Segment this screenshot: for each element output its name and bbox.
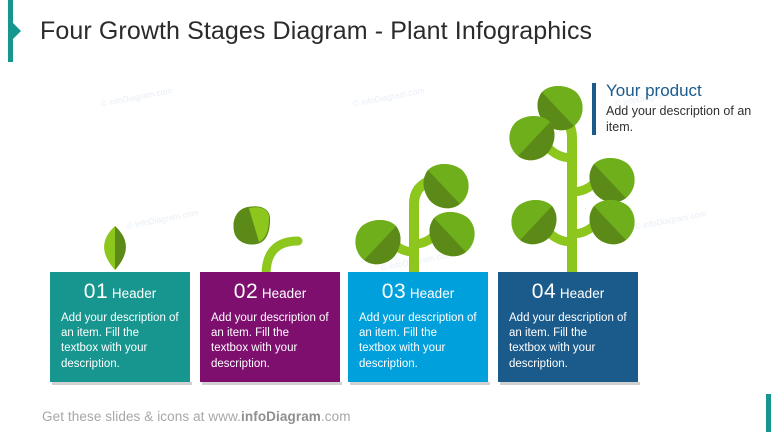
stage-header-01: 01 Header — [61, 281, 179, 305]
stage-box-01[interactable]: 01 Header Add your description of an ite… — [50, 272, 190, 382]
stage-box-03[interactable]: 03 Header Add your description of an ite… — [348, 272, 488, 382]
watermark: © infoDiagram.com — [126, 207, 199, 231]
plant-stage-3 — [352, 158, 476, 278]
stage-description-04: Add your description of an item. Fill th… — [509, 311, 627, 372]
right-accent-bar — [766, 394, 771, 432]
stage-header-label-01: Header — [112, 286, 156, 301]
stage-header-02: 02 Header — [211, 281, 329, 305]
footer-suffix: .com — [321, 409, 351, 424]
stage-description-02: Add your description of an item. Fill th… — [211, 311, 329, 372]
left-arrow-icon — [12, 22, 21, 40]
stage-number-02: 02 — [234, 280, 258, 303]
stage-description-03: Add your description of an item. Fill th… — [359, 311, 477, 372]
plant-stage-1 — [96, 224, 134, 272]
stage-header-label-04: Header — [560, 286, 604, 301]
watermark: © infoDiagram.com — [352, 85, 425, 109]
product-callout: Your product Add your description of an … — [592, 80, 767, 135]
slide-canvas: Four Growth Stages Diagram - Plant Infog… — [0, 0, 783, 440]
stage-box-04[interactable]: 04 Header Add your description of an ite… — [498, 272, 638, 382]
stage-header-04: 04 Header — [509, 281, 627, 305]
callout-accent-bar — [592, 83, 596, 135]
sprout-seedling-icon — [96, 224, 134, 272]
plant-stage-2 — [232, 205, 304, 275]
stage-box-02[interactable]: 02 Header Add your description of an ite… — [200, 272, 340, 382]
sprout-one-leaf-icon — [232, 205, 304, 275]
stage-number-03: 03 — [382, 280, 406, 303]
stage-number-04: 04 — [532, 280, 556, 303]
callout-title: Your product — [606, 80, 767, 102]
footer-credit: Get these slides & icons at www.infoDiag… — [42, 409, 351, 424]
plant-three-leaves-icon — [352, 158, 476, 278]
callout-description: Add your description of an item. — [606, 104, 767, 135]
stage-header-label-02: Header — [262, 286, 306, 301]
footer-brand: infoDiagram — [241, 409, 321, 424]
watermark: © infoDiagram.com — [100, 85, 173, 109]
stage-header-label-03: Header — [410, 286, 454, 301]
page-title: Four Growth Stages Diagram - Plant Infog… — [40, 17, 592, 46]
stage-header-03: 03 Header — [359, 281, 477, 305]
footer-prefix: Get these slides & icons at www. — [42, 409, 241, 424]
stage-number-01: 01 — [84, 280, 108, 303]
stage-description-01: Add your description of an item. Fill th… — [61, 311, 179, 372]
